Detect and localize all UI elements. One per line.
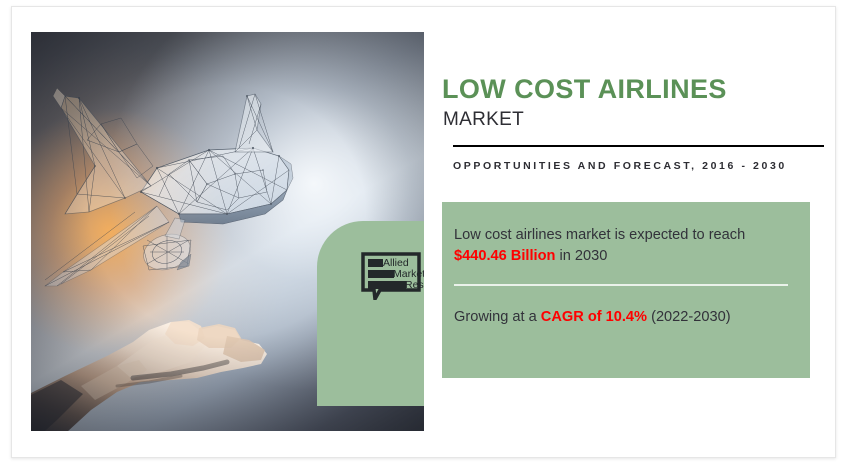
report-kicker: OPPORTUNITIES AND FORECAST, 2016 - 2030 — [453, 158, 825, 175]
market-size-prefix: Low cost airlines market is expected to … — [454, 227, 745, 243]
highlights-box: Low cost airlines market is expected to … — [442, 202, 810, 378]
cagr-value: CAGR of 10.4% — [541, 309, 647, 325]
cagr-prefix: Growing at a — [454, 309, 541, 325]
logo-panel: Allied Market Research — [317, 221, 424, 406]
title-divider — [453, 145, 824, 147]
logo-line1: Allied — [383, 257, 409, 269]
report-subtitle: MARKET — [443, 110, 524, 129]
logo-line3: Research — [405, 279, 424, 291]
hero-photo: Allied Market Research — [31, 32, 424, 431]
market-size-value: $440.46 Billion — [454, 248, 555, 264]
report-title: LOW COST AIRLINES — [442, 76, 727, 103]
cagr-highlight: Growing at a CAGR of 10.4% (2022-2030) — [454, 307, 786, 328]
market-size-highlight: Low cost airlines market is expected to … — [454, 225, 786, 266]
highlights-divider — [454, 284, 788, 286]
report-header-column: LOW COST AIRLINES MARKET OPPORTUNITIES A… — [442, 32, 825, 431]
logo-line2: Market — [393, 268, 424, 280]
report-card: Allied Market Research LOW COST AIRLINES… — [11, 6, 836, 458]
market-size-suffix: in 2030 — [555, 248, 607, 264]
cagr-suffix: (2022-2030) — [647, 309, 731, 325]
allied-market-research-logo: Allied Market Research — [360, 252, 424, 300]
